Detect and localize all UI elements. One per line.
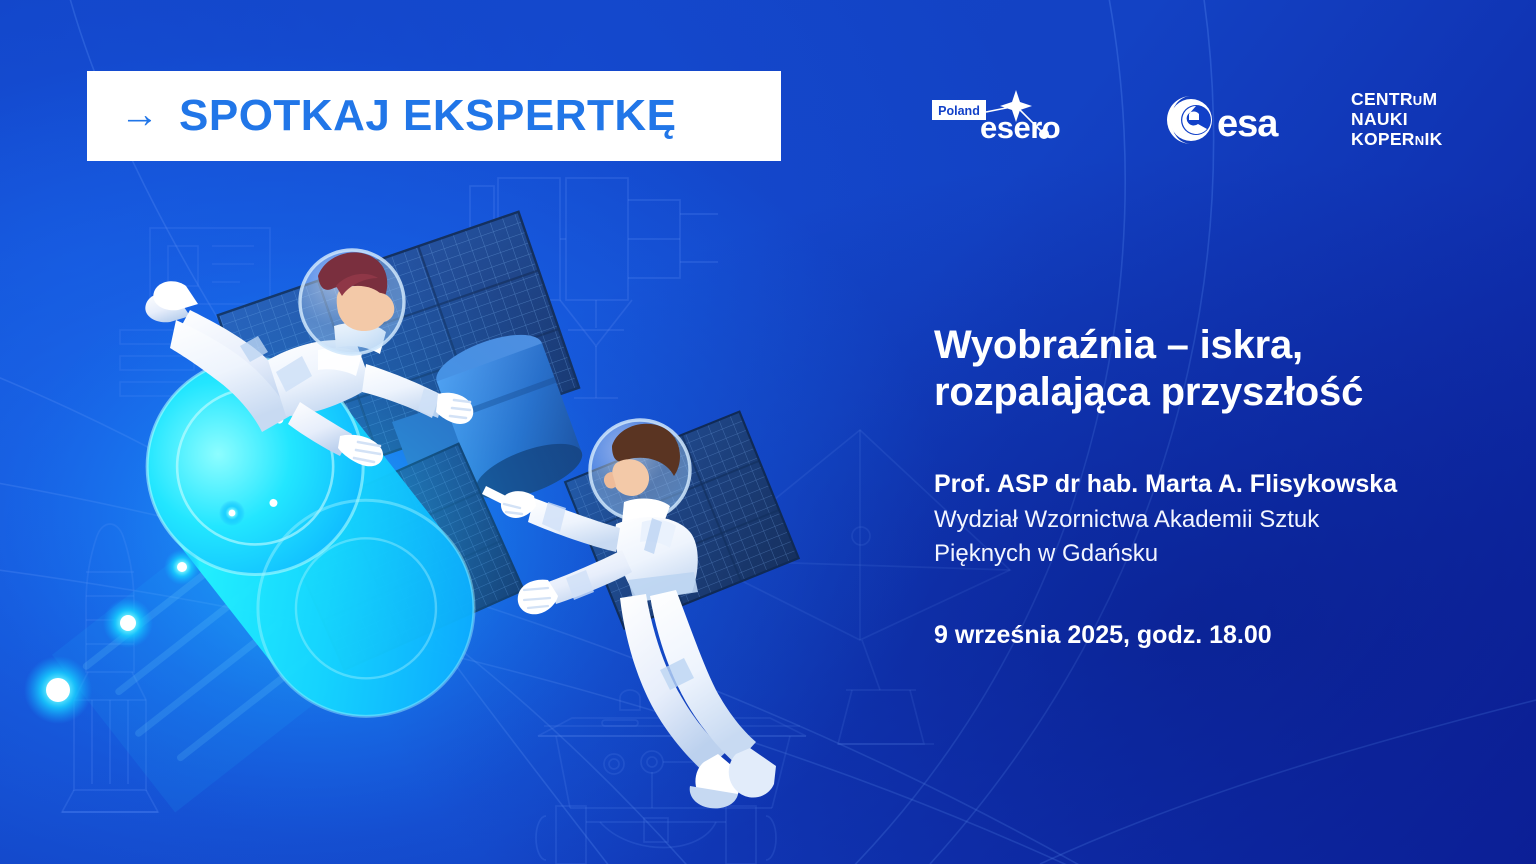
headline-line-2: rozpalająca przyszłość <box>934 370 1363 414</box>
esa-logo: esa <box>1165 94 1290 146</box>
header-banner: → SPOTKAJ EKSPERTKĘ <box>87 71 781 161</box>
esa-wordmark: esa <box>1217 103 1279 145</box>
cnk-line-2: NAUKI <box>1351 110 1476 130</box>
centrum-nauki-kopernik-logo: CENTRUM NAUKI KOPERNIK <box>1351 90 1476 152</box>
esero-wordmark: esero <box>980 110 1060 145</box>
esero-badge-label: Poland <box>938 104 980 118</box>
speaker-name: Prof. ASP dr hab. Marta A. Flisykowska <box>934 468 1499 501</box>
headline-line-1: Wyobraźnia – iskra, <box>934 323 1303 367</box>
cnk-koper: KOPER <box>1351 129 1415 149</box>
esero-logo: Poland esero <box>930 86 1100 156</box>
banner-title: SPOTKAJ EKSPERTKĘ <box>179 91 676 141</box>
logo-row: Poland esero esa CENTRUM <box>915 78 1485 166</box>
event-details: Wyobraźnia – iskra, rozpalająca przyszło… <box>934 322 1499 650</box>
cnk-m: M <box>1422 89 1437 109</box>
cnk-line-3: KOPERNIK <box>1351 130 1476 150</box>
cnk-n: N <box>1415 133 1425 148</box>
cnk-line-1: CENTRUM <box>1351 90 1476 110</box>
page-title: Wyobraźnia – iskra, rozpalająca przyszło… <box>934 322 1499 416</box>
cnk-ik: IK <box>1424 129 1442 149</box>
cnk-centr: CENTR <box>1351 89 1413 109</box>
event-datetime: 9 września 2025, godz. 18.00 <box>934 621 1499 650</box>
event-poster: → SPOTKAJ EKSPERTKĘ Poland esero <box>0 0 1536 864</box>
affiliation-line-1: Wydział Wzornictwa Akademii Sztuk <box>934 506 1319 533</box>
speaker-affiliation: Wydział Wzornictwa Akademii Sztuk Piękny… <box>934 503 1499 571</box>
arrow-right-icon: → <box>120 95 159 134</box>
astronauts-satellite-illustration <box>0 150 900 864</box>
affiliation-line-2: Pięknych w Gdańsku <box>934 540 1158 567</box>
